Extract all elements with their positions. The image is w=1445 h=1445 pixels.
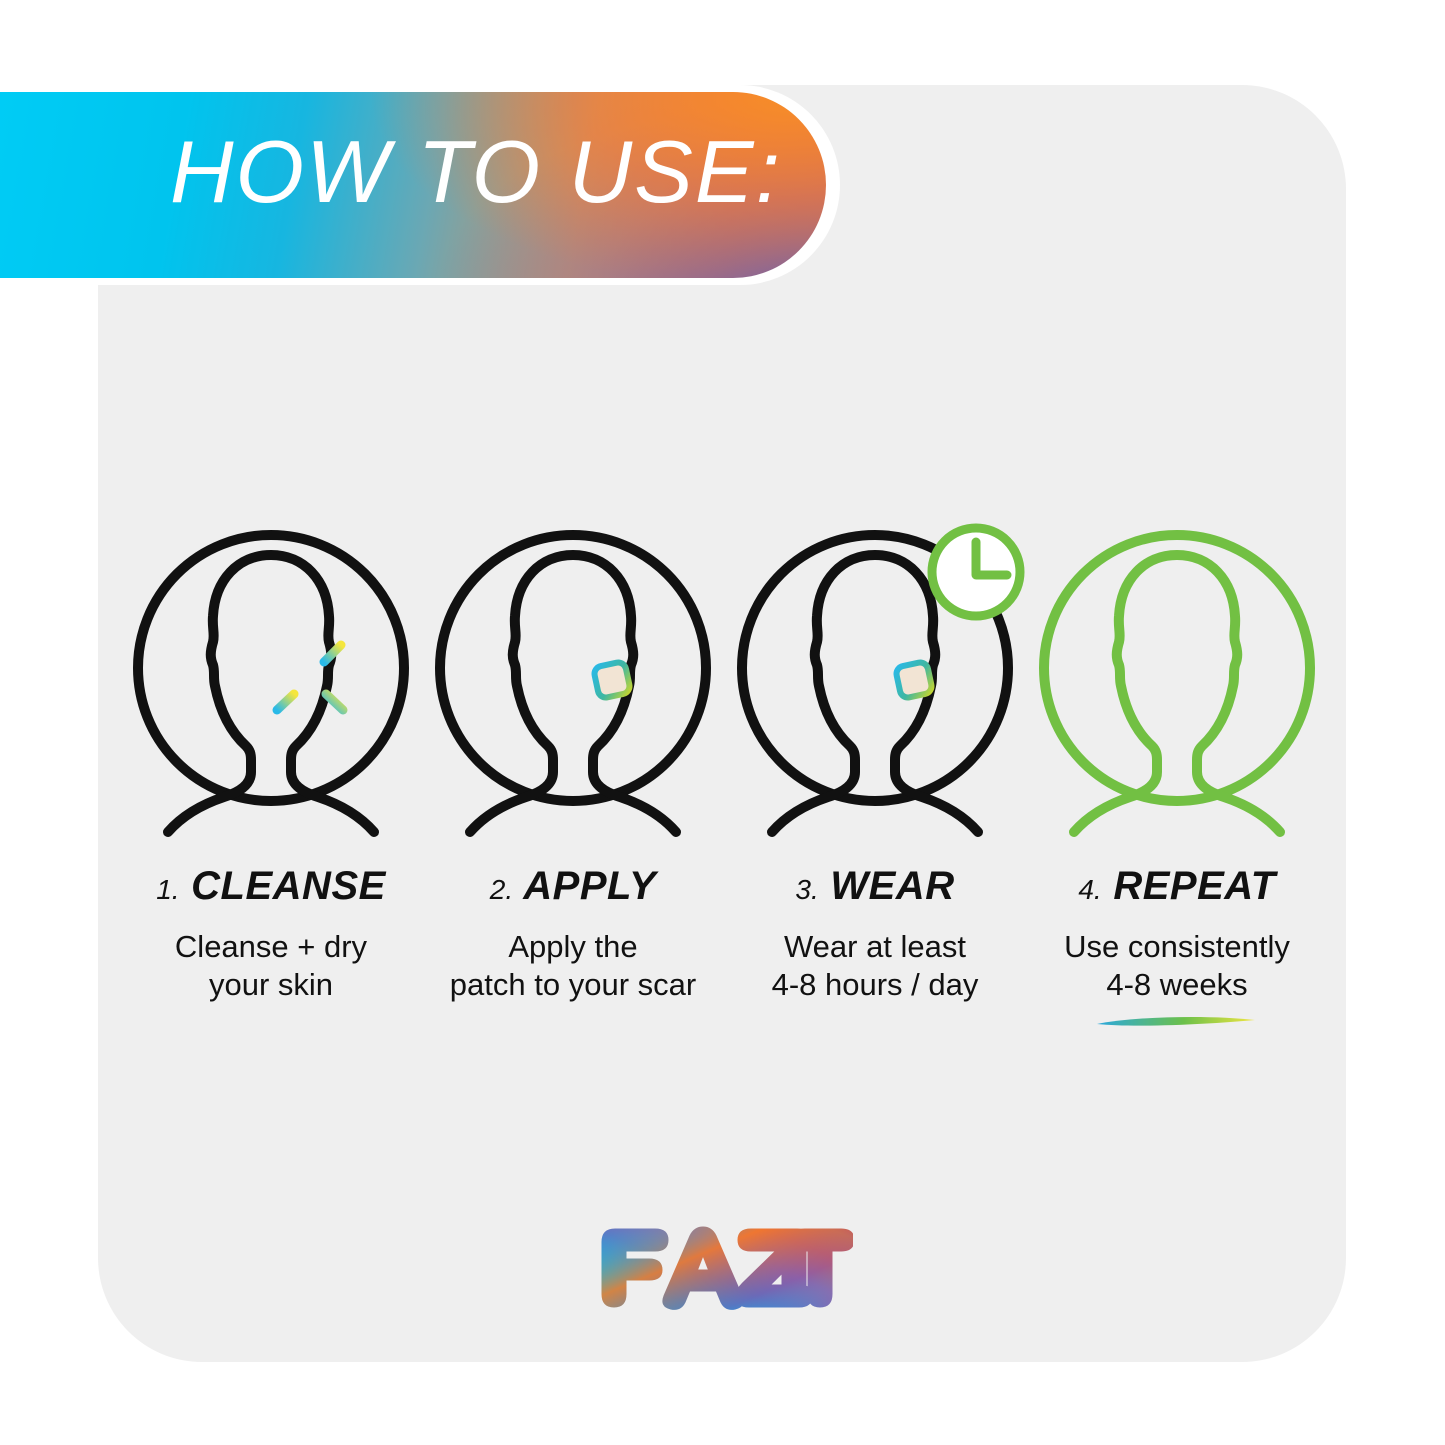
sparkle-rays	[263, 628, 356, 726]
step-1-heading: 1. CLEANSE	[156, 866, 386, 906]
step-3-body: Wear at least 4-8 hours / day	[772, 928, 979, 1004]
steps-row: 1. CLEANSE Cleanse + dry your skin	[120, 520, 1330, 1030]
step-repeat: 4. REPEAT Use consistently 4-8 weeks	[1026, 520, 1328, 1030]
step-4-body: Use consistently 4-8 weeks	[1064, 928, 1290, 1004]
face-sparkle-icon	[120, 520, 422, 850]
face-green-icon	[1026, 520, 1328, 850]
step-3-title: WEAR	[830, 864, 954, 908]
step-3-heading: 3. WEAR	[795, 866, 954, 906]
step-wear: 3. WEAR Wear at least 4-8 hours / day	[724, 520, 1026, 1030]
step-4-icon-box	[1026, 520, 1328, 850]
step-1-icon-box	[120, 520, 422, 850]
page-title: HOW TO USE:	[170, 128, 782, 216]
step-3-number: 3.	[795, 874, 818, 905]
step-3-icon-box	[724, 520, 1026, 850]
step-4-number: 4.	[1078, 874, 1101, 905]
face-patch-clock-icon	[724, 520, 1026, 850]
scar-patch-icon	[895, 661, 933, 699]
step-1-body: Cleanse + dry your skin	[175, 928, 367, 1004]
step-2-icon-box	[422, 520, 724, 850]
step-2-heading: 2. APPLY	[490, 866, 656, 906]
step-4-heading: 4. REPEAT	[1078, 866, 1275, 906]
step-1-title: CLEANSE	[191, 864, 386, 908]
step-apply: 2. APPLY Apply the patch to your scar	[422, 520, 724, 1030]
clock-badge-icon	[932, 528, 1020, 616]
step-2-number: 2.	[490, 874, 513, 905]
step-cleanse: 1. CLEANSE Cleanse + dry your skin	[120, 520, 422, 1030]
step-2-body: Apply the patch to your scar	[450, 928, 696, 1004]
step-4-title: REPEAT	[1113, 864, 1275, 908]
face-patch-icon	[422, 520, 724, 850]
fazit-logo-icon	[593, 1218, 853, 1314]
scar-patch-icon	[593, 661, 631, 699]
step-4-underline	[1026, 1012, 1328, 1030]
gradient-underline-icon	[1092, 1012, 1262, 1030]
brand-logo	[0, 1218, 1445, 1314]
step-1-number: 1.	[156, 874, 179, 905]
step-2-title: APPLY	[523, 864, 656, 908]
